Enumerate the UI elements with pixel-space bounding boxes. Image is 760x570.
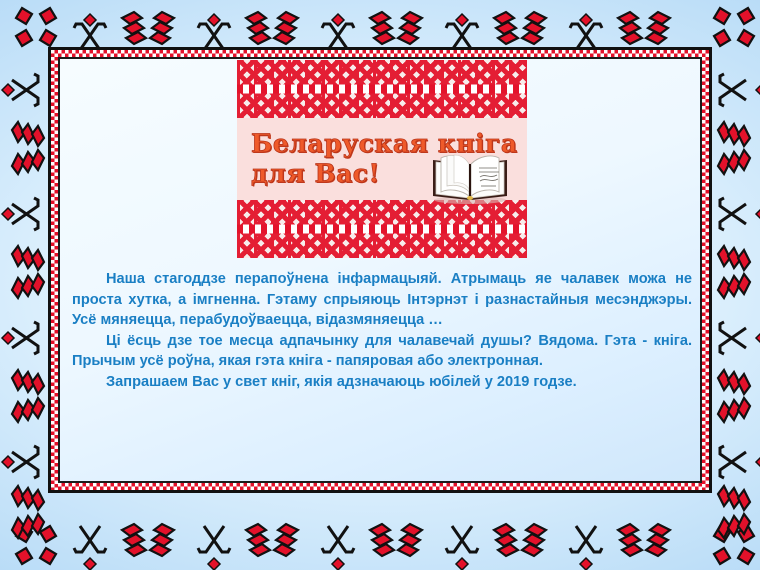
ornament-repeat-bottom xyxy=(74,524,670,570)
ornament-band-bottom xyxy=(237,200,527,258)
ornament-repeat-left xyxy=(2,74,44,538)
ornament-band-top xyxy=(237,60,527,118)
paragraph-1: Наша стагоддзе перапоўнена інфармацыяй. … xyxy=(72,269,692,331)
title-banner: Беларуская кніга для Вас! xyxy=(237,60,527,258)
paragraph-2: Ці ёсць дзе тое месца адпачынку для чала… xyxy=(72,331,692,372)
paragraph-3: Запрашаем Вас у свет кніг, якія адзначаю… xyxy=(72,372,692,393)
ornament-repeat-top xyxy=(74,12,670,50)
slide-canvas: Беларуская кніга для Вас! xyxy=(0,0,760,570)
body-text-block: Наша стагоддзе перапоўнена інфармацыяй. … xyxy=(72,269,692,392)
open-book-icon xyxy=(427,146,513,204)
ornament-repeat-right xyxy=(718,74,760,538)
content-area: Беларуская кніга для Вас! xyxy=(58,57,702,483)
ornament-border-bottom xyxy=(0,512,760,570)
